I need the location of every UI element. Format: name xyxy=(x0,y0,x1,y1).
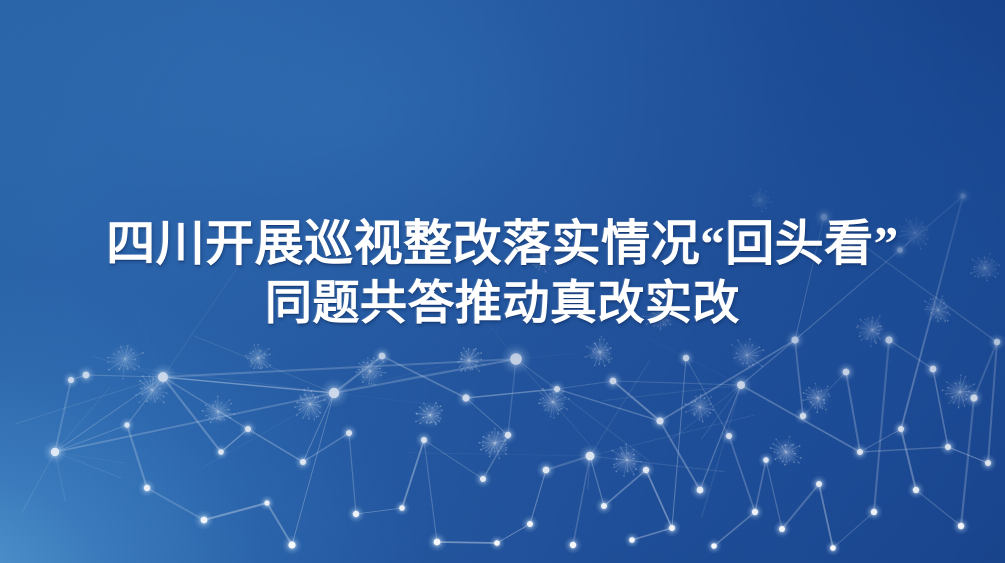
burst-tip xyxy=(127,368,129,370)
burst-tip xyxy=(475,348,477,350)
burst-tip xyxy=(764,195,766,197)
burst-tip xyxy=(761,210,763,212)
burst-tip xyxy=(374,384,376,386)
burst-tip xyxy=(757,355,759,357)
burst-tip xyxy=(379,368,381,370)
burst-tip xyxy=(758,192,760,194)
burst-tip xyxy=(319,412,321,414)
burst-tip xyxy=(694,400,696,402)
burst-spoke xyxy=(469,360,481,361)
burst-tip xyxy=(958,382,960,384)
burst-tip xyxy=(435,402,437,404)
burst-tip xyxy=(784,464,786,466)
burst-tip xyxy=(363,361,365,363)
network-node xyxy=(489,535,505,551)
burst-tip xyxy=(746,362,748,364)
burst-tip xyxy=(772,443,774,445)
burst-tip xyxy=(217,396,219,398)
burst-tip xyxy=(229,399,231,401)
burst-tip xyxy=(758,205,760,207)
burst-tip xyxy=(749,338,751,340)
burst-tip xyxy=(786,461,788,463)
burst-tip xyxy=(610,347,612,349)
network-node xyxy=(825,540,841,556)
burst-tip xyxy=(367,357,369,359)
burst-tip xyxy=(245,355,247,357)
network-link xyxy=(573,456,590,545)
burst-tip xyxy=(777,453,779,455)
burst-tip xyxy=(691,402,693,404)
burst-tip xyxy=(141,393,143,395)
burst-tip xyxy=(120,346,122,348)
burst-tip xyxy=(942,389,944,391)
burst-tip xyxy=(817,391,819,393)
burst-tip xyxy=(599,339,601,341)
burst-tip xyxy=(625,443,627,445)
burst-tip xyxy=(478,442,480,444)
burst-tip xyxy=(815,383,817,385)
burst-tip xyxy=(859,335,861,337)
burst-tip xyxy=(955,383,957,385)
burst-tip xyxy=(269,364,271,366)
network-node xyxy=(603,371,623,391)
burst-tip xyxy=(603,339,605,341)
network-node xyxy=(730,374,752,396)
burst-tip xyxy=(142,352,144,354)
burst-tip xyxy=(461,354,463,356)
burst-tip xyxy=(368,383,370,385)
burst-tip xyxy=(215,401,217,403)
network-fan-line xyxy=(603,385,741,401)
network-node xyxy=(923,359,943,379)
burst-tip xyxy=(460,370,462,372)
burst-tip xyxy=(428,405,430,407)
burst-tip xyxy=(459,366,461,368)
burst-tip xyxy=(793,461,795,463)
network-burst xyxy=(107,342,144,380)
burst-tip xyxy=(765,190,767,192)
burst-tip xyxy=(620,446,622,448)
burst-tip xyxy=(483,363,485,365)
network-burst xyxy=(584,336,613,367)
burst-tip xyxy=(612,450,614,452)
network-node xyxy=(149,363,177,391)
burst-tip xyxy=(792,444,794,446)
burst-tip xyxy=(951,396,953,398)
page-title: 四川开展巡视整改落实情况“回头看” 同题共答推动真改实改 xyxy=(0,214,1005,334)
burst-tip xyxy=(264,353,266,355)
burst-tip xyxy=(251,362,253,364)
burst-tip xyxy=(355,371,357,373)
burst-tip xyxy=(296,414,298,416)
network-node xyxy=(988,333,1005,351)
burst-tip xyxy=(700,394,702,396)
network-burst xyxy=(685,394,715,423)
title-banner: 四川开展巡视整改落实情况“回头看” 同题共答推动真改实改 xyxy=(0,0,1005,563)
burst-tip xyxy=(946,381,948,383)
network-node xyxy=(578,444,602,468)
burst-tip xyxy=(591,357,593,359)
network-link xyxy=(163,377,248,429)
burst-tip xyxy=(250,365,252,367)
network-burst xyxy=(731,338,764,371)
burst-tip xyxy=(562,403,564,405)
burst-tip xyxy=(710,403,712,405)
burst-tip xyxy=(754,194,756,196)
burst-tip xyxy=(821,407,823,409)
burst-tip xyxy=(827,386,829,388)
burst-tip xyxy=(707,415,709,417)
burst-tip xyxy=(613,464,615,466)
burst-tip xyxy=(828,393,830,395)
burst-tip xyxy=(302,402,304,404)
burst-tip xyxy=(163,402,165,404)
network-link xyxy=(349,433,356,514)
network-node xyxy=(836,362,856,382)
burst-tip xyxy=(820,390,822,392)
network-node xyxy=(282,535,302,555)
burst-tip xyxy=(299,395,301,397)
burst-tip xyxy=(611,358,613,360)
burst-tip xyxy=(865,338,867,340)
network-node xyxy=(892,420,910,438)
title-line-2: 同题共答推动真改实改 xyxy=(0,274,1005,334)
burst-tip xyxy=(798,462,800,464)
burst-tip xyxy=(874,341,876,343)
burst-tip xyxy=(260,368,262,370)
burst-tip xyxy=(623,475,625,477)
burst-tip xyxy=(481,359,483,361)
burst-tip xyxy=(361,368,363,370)
burst-tip xyxy=(814,407,816,409)
network-node xyxy=(76,365,96,385)
burst-tip xyxy=(774,451,776,453)
network-link xyxy=(819,484,833,548)
network-fan-line xyxy=(590,359,650,456)
burst-tip xyxy=(736,352,738,354)
burst-tip xyxy=(113,353,115,355)
burst-tip xyxy=(262,367,264,369)
burst-tip xyxy=(143,386,145,388)
network-node xyxy=(865,503,883,521)
burst-tip xyxy=(808,387,810,389)
burst-tip xyxy=(695,396,697,398)
burst-tip xyxy=(205,404,207,406)
burst-tip xyxy=(765,207,767,209)
burst-tip xyxy=(475,364,477,366)
burst-tip xyxy=(234,413,236,415)
burst-tip xyxy=(257,344,259,346)
burst-tip xyxy=(621,453,623,455)
burst-tip xyxy=(250,353,252,355)
network-node xyxy=(964,388,984,408)
network-node xyxy=(259,495,275,511)
burst-tip xyxy=(380,374,382,376)
burst-tip xyxy=(712,409,714,411)
burst-tip xyxy=(609,353,611,355)
burst-tip xyxy=(958,407,960,409)
burst-tip xyxy=(759,188,761,190)
burst-tip xyxy=(139,380,141,382)
burst-tip xyxy=(542,388,544,390)
burst-tip xyxy=(770,447,772,449)
network-node xyxy=(624,532,640,548)
burst-tip xyxy=(268,348,270,350)
burst-tip xyxy=(605,346,607,348)
burst-tip xyxy=(694,414,696,416)
burst-tip xyxy=(142,375,144,377)
burst-tip xyxy=(460,358,462,360)
burst-tip xyxy=(494,451,496,453)
burst-tip xyxy=(604,365,606,367)
network-node xyxy=(720,427,738,445)
burst-tip xyxy=(825,409,827,411)
burst-tip xyxy=(131,348,133,350)
burst-tip xyxy=(471,368,473,370)
network-node xyxy=(427,532,447,552)
burst-tip xyxy=(584,356,586,358)
burst-tip xyxy=(426,408,428,410)
network-node xyxy=(939,438,957,456)
network-fan-line xyxy=(590,456,725,472)
burst-tip xyxy=(693,412,695,414)
network-node xyxy=(500,343,532,375)
burst-tip xyxy=(230,403,232,405)
network-link xyxy=(901,429,916,490)
burst-tip xyxy=(371,360,373,362)
burst-tip xyxy=(482,445,484,447)
network-node xyxy=(810,475,828,493)
burst-tip xyxy=(564,397,566,399)
burst-tip xyxy=(731,344,733,346)
burst-tip xyxy=(468,348,470,350)
network-link xyxy=(424,440,437,542)
network-node xyxy=(372,346,392,366)
network-burst xyxy=(245,344,271,371)
burst-tip xyxy=(634,463,636,465)
burst-tip xyxy=(800,457,802,459)
burst-tip xyxy=(489,452,491,454)
burst-tip xyxy=(358,369,360,371)
burst-tip xyxy=(799,445,801,447)
network-node xyxy=(294,453,312,471)
burst-tip xyxy=(480,352,482,354)
network-node xyxy=(239,420,257,438)
network-node xyxy=(979,454,997,472)
burst-tip xyxy=(505,453,507,455)
burst-tip xyxy=(742,363,744,365)
burst-tip xyxy=(228,409,230,411)
burst-tip xyxy=(266,367,268,369)
network-node xyxy=(213,444,229,460)
burst-tip xyxy=(220,402,222,404)
burst-tip xyxy=(807,396,809,398)
burst-tip xyxy=(316,416,318,418)
burst-tip xyxy=(464,370,466,372)
burst-tip xyxy=(633,449,635,451)
burst-tip xyxy=(467,366,469,368)
burst-tip xyxy=(816,411,818,413)
burst-tip xyxy=(829,395,831,397)
burst-tip xyxy=(431,421,433,423)
network-link xyxy=(933,369,948,447)
burst-tip xyxy=(118,368,120,370)
burst-tip xyxy=(314,419,316,421)
burst-tip xyxy=(750,195,752,197)
burst-tip xyxy=(820,406,822,408)
burst-tip xyxy=(138,366,140,368)
network-node xyxy=(536,460,556,480)
burst-tip xyxy=(709,412,711,414)
burst-tip xyxy=(558,409,560,411)
burst-tip xyxy=(362,374,364,376)
burst-tip xyxy=(138,401,140,403)
burst-tip xyxy=(550,416,552,418)
network-node xyxy=(43,440,67,464)
burst-tip xyxy=(303,389,305,391)
burst-tip xyxy=(737,339,739,341)
burst-tip xyxy=(253,351,255,353)
burst-tip xyxy=(594,365,596,367)
burst-tip xyxy=(385,372,387,374)
burst-tip xyxy=(317,404,319,406)
network-burst xyxy=(456,347,485,373)
network-link xyxy=(557,389,660,421)
burst-tip xyxy=(792,451,794,453)
burst-tip xyxy=(586,346,588,348)
burst-tip xyxy=(752,344,754,346)
burst-tip xyxy=(633,474,635,476)
burst-tip xyxy=(310,390,312,392)
title-line-1: 四川开展巡视整改落实情况“回头看” xyxy=(0,214,1005,274)
burst-tip xyxy=(594,343,596,345)
burst-tip xyxy=(802,399,804,401)
burst-tip xyxy=(166,392,168,394)
burst-tip xyxy=(592,350,594,352)
burst-tip xyxy=(752,199,754,201)
burst-tip xyxy=(557,413,559,415)
network-link xyxy=(646,470,672,528)
burst-tip xyxy=(207,408,209,410)
burst-tip xyxy=(469,369,471,371)
burst-tip xyxy=(595,357,597,359)
network-node xyxy=(677,349,695,367)
burst-tip xyxy=(362,381,364,383)
burst-tip xyxy=(965,376,967,378)
network-node xyxy=(340,424,358,442)
burst-tip xyxy=(415,421,417,423)
network-burst xyxy=(415,401,444,429)
burst-tip xyxy=(497,431,499,433)
burst-tip xyxy=(482,436,484,438)
burst-tip xyxy=(762,349,764,351)
burst-tip xyxy=(607,349,609,351)
burst-tip xyxy=(543,405,545,407)
network-link xyxy=(729,436,755,512)
network-node xyxy=(138,479,156,497)
burst-tip xyxy=(594,348,596,350)
burst-tip xyxy=(294,406,296,408)
burst-tip xyxy=(220,419,222,421)
burst-tip xyxy=(218,418,220,420)
network-burst xyxy=(750,188,773,212)
burst-tip xyxy=(758,346,760,348)
network-node xyxy=(347,505,365,523)
burst-tip xyxy=(752,364,754,366)
burst-tip xyxy=(480,449,482,451)
network-burst xyxy=(202,396,236,427)
burst-tip xyxy=(438,420,440,422)
burst-tip xyxy=(745,344,747,346)
network-node xyxy=(952,517,970,535)
network-node xyxy=(773,520,791,538)
burst-tip xyxy=(774,458,776,460)
burst-tip xyxy=(945,393,947,395)
burst-tip xyxy=(314,397,316,399)
burst-tip xyxy=(771,202,773,204)
burst-tip xyxy=(437,406,439,408)
network-node xyxy=(474,470,492,488)
burst-tip xyxy=(609,359,611,361)
burst-tip xyxy=(210,421,212,423)
burst-tip xyxy=(463,347,465,349)
burst-tip xyxy=(431,407,433,409)
burst-tip xyxy=(107,357,109,359)
burst-tip xyxy=(302,417,304,419)
burst-tip xyxy=(782,446,784,448)
burst-tip xyxy=(260,350,262,352)
network-node xyxy=(907,481,925,499)
burst-tip xyxy=(435,424,437,426)
burst-tip xyxy=(685,403,687,405)
burst-tip xyxy=(609,361,611,363)
burst-tip xyxy=(755,206,757,208)
network-node xyxy=(595,497,613,515)
network-node xyxy=(319,378,349,408)
burst-tip xyxy=(506,447,508,449)
burst-tip xyxy=(457,361,459,363)
burst-tip xyxy=(118,351,120,353)
network-node xyxy=(521,515,539,533)
burst-tip xyxy=(488,436,490,438)
burst-tip xyxy=(633,454,635,456)
burst-tip xyxy=(419,423,421,425)
burst-tip xyxy=(544,409,546,411)
burst-tip xyxy=(753,201,755,203)
network-node xyxy=(650,411,670,431)
burst-tip xyxy=(224,419,226,421)
burst-tip xyxy=(540,392,542,394)
burst-tip xyxy=(107,361,109,363)
burst-tip xyxy=(947,387,949,389)
burst-tip xyxy=(768,197,770,199)
network-node xyxy=(394,500,410,516)
burst-tip xyxy=(135,394,137,396)
burst-tip xyxy=(247,358,249,360)
burst-tip xyxy=(202,410,204,412)
burst-tip xyxy=(422,417,424,419)
burst-tip xyxy=(538,402,540,404)
burst-tip xyxy=(553,417,555,419)
burst-tip xyxy=(478,352,480,354)
burst-tip xyxy=(542,397,544,399)
burst-tip xyxy=(633,458,635,460)
network-node xyxy=(663,519,681,537)
network-link xyxy=(424,440,483,479)
burst-tip xyxy=(299,409,301,411)
burst-tip xyxy=(425,421,427,423)
burst-tip xyxy=(782,461,784,463)
